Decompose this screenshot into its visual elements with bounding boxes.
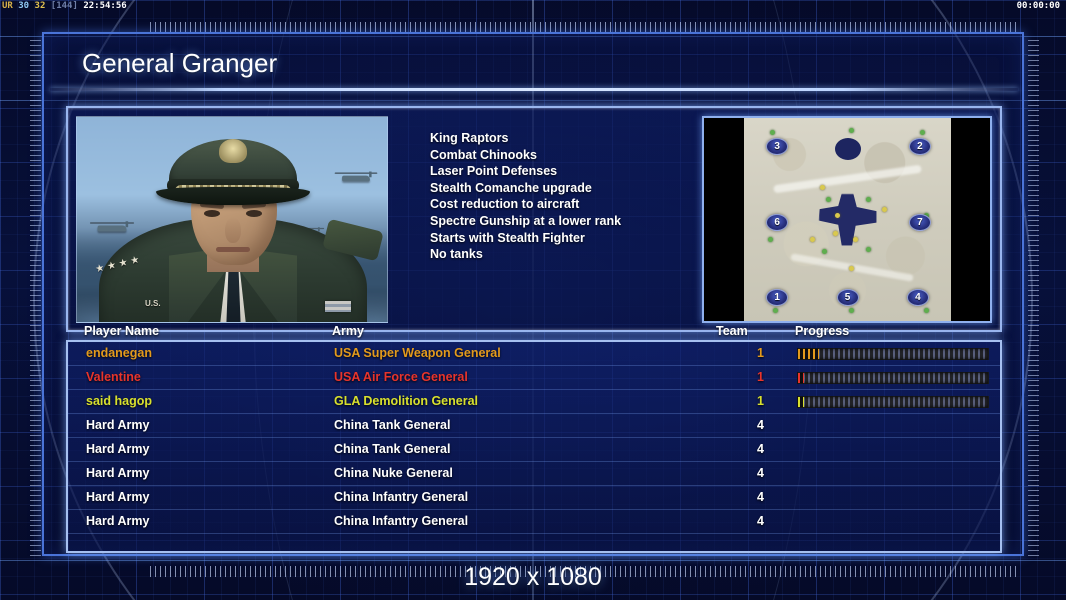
cell-team: 1 xyxy=(744,394,764,408)
table-row[interactable]: Hard ArmyChina Tank General4 xyxy=(68,438,1000,462)
ruler-right xyxy=(1028,40,1039,560)
map-resource-green-icon xyxy=(826,197,831,202)
cell-team: 4 xyxy=(744,514,764,528)
column-header-player-name: Player Name xyxy=(84,324,159,338)
progress-bar xyxy=(797,372,989,384)
resolution-overlay: 1920 x 1080 xyxy=(0,563,1066,592)
ruler-left xyxy=(30,40,41,560)
page-title: General Granger xyxy=(82,48,277,79)
map-start-position-5[interactable]: 5 xyxy=(837,289,859,306)
table-row[interactable]: endaneganUSA Super Weapon General1 xyxy=(68,342,1000,366)
cell-player-name: Hard Army xyxy=(86,514,149,528)
table-row[interactable]: ValentineUSA Air Force General1 xyxy=(68,366,1000,390)
cell-army: China Nuke General xyxy=(334,466,453,480)
game-screen: UR 30 32 [144] 22:54:56 00:00:00 General… xyxy=(0,0,1066,600)
map-terrain: 3267154 xyxy=(744,118,951,321)
cell-team: 1 xyxy=(744,370,764,384)
cell-team: 1 xyxy=(744,346,764,360)
table-row[interactable]: Hard ArmyChina Infantry General4 xyxy=(68,486,1000,510)
cell-army: China Tank General xyxy=(334,418,450,432)
officer-figure: ★★★★ U.S. xyxy=(77,117,388,323)
map-start-position-1[interactable]: 1 xyxy=(766,289,788,306)
status-bracket: [144] xyxy=(51,1,78,11)
horizontal-guide-bottom xyxy=(0,560,1066,561)
officer-us-insignia: U.S. xyxy=(145,299,161,308)
table-row[interactable]: Hard ArmyChina Tank General4 xyxy=(68,414,1000,438)
cell-army: China Infantry General xyxy=(334,514,468,528)
table-row[interactable]: Hard ArmyChina Nuke General4 xyxy=(68,462,1000,486)
perk-item: No tanks xyxy=(430,246,730,263)
cell-army: China Infantry General xyxy=(334,490,468,504)
map-resource-gold-icon xyxy=(835,213,840,218)
cell-army: USA Super Weapon General xyxy=(334,346,501,360)
general-portrait: ★★★★ U.S. xyxy=(76,116,388,323)
status-clock: 22:54:56 xyxy=(83,1,126,11)
map-resource-green-icon xyxy=(770,130,775,135)
table-header: Player Name Army Team Progress xyxy=(66,340,1002,341)
map-start-position-3[interactable]: 3 xyxy=(766,138,788,155)
map-resource-green-icon xyxy=(866,247,871,252)
map-resource-green-icon xyxy=(924,308,929,313)
map-resource-green-icon xyxy=(920,130,925,135)
cell-player-name: Valentine xyxy=(86,370,141,384)
officer-eye-right xyxy=(246,210,262,217)
map-river xyxy=(773,164,922,193)
player-rows: endaneganUSA Super Weapon General1Valent… xyxy=(68,342,1000,534)
player-list-panel: endaneganUSA Super Weapon General1Valent… xyxy=(66,340,1002,553)
officer-eye-left xyxy=(204,210,220,217)
map-resource-green-icon xyxy=(866,197,871,202)
progress-bar-fill xyxy=(798,397,804,407)
perk-item: Laser Point Defenses xyxy=(430,163,730,180)
status-timer: 00:00:00 xyxy=(1017,1,1060,11)
map-resource-green-icon xyxy=(768,237,773,242)
cell-army: USA Air Force General xyxy=(334,370,468,384)
cell-player-name: endanegan xyxy=(86,346,152,360)
map-resource-gold-icon xyxy=(882,207,887,212)
table-row[interactable]: said hagopGLA Demolition General1 xyxy=(68,390,1000,414)
status-value-2: 32 xyxy=(35,1,46,11)
cell-army: GLA Demolition General xyxy=(334,394,478,408)
perk-item: King Raptors xyxy=(430,130,730,147)
perk-item: Cost reduction to aircraft xyxy=(430,196,730,213)
officer-cap-brim xyxy=(156,187,310,205)
cell-team: 4 xyxy=(744,466,764,480)
top-status-bar: UR 30 32 [144] 22:54:56 00:00:00 xyxy=(0,0,1066,13)
status-left-group: UR 30 32 [144] 22:54:56 xyxy=(2,1,127,11)
officer-nose xyxy=(225,217,241,243)
cell-team: 4 xyxy=(744,442,764,456)
progress-bar xyxy=(797,396,989,408)
officer-ribbon-bar xyxy=(325,301,351,312)
title-divider xyxy=(50,88,1018,91)
map-lake xyxy=(835,138,861,160)
column-header-army: Army xyxy=(332,324,364,338)
general-info-panel: ★★★★ U.S. King Raptors Combat Chinooks L… xyxy=(66,106,1002,332)
officer-mouth xyxy=(216,247,250,252)
progress-bar xyxy=(797,348,989,360)
map-resource-green-icon xyxy=(822,249,827,254)
map-start-position-6[interactable]: 6 xyxy=(766,214,788,231)
map-resource-gold-icon xyxy=(833,231,838,236)
perk-item: Stealth Comanche upgrade xyxy=(430,180,730,197)
cell-player-name: Hard Army xyxy=(86,490,149,504)
cell-team: 4 xyxy=(744,490,764,504)
perk-item: Starts with Stealth Fighter xyxy=(430,230,730,247)
cell-player-name: Hard Army xyxy=(86,442,149,456)
cell-player-name: Hard Army xyxy=(86,466,149,480)
map-preview[interactable]: 3267154 xyxy=(702,116,992,323)
cell-player-name: said hagop xyxy=(86,394,152,408)
officer-cap-crest-icon xyxy=(219,139,247,163)
map-resource-gold-icon xyxy=(849,266,854,271)
map-start-position-2[interactable]: 2 xyxy=(909,138,931,155)
progress-bar-fill xyxy=(798,349,819,359)
map-start-position-7[interactable]: 7 xyxy=(909,214,931,231)
column-header-team: Team xyxy=(716,324,748,338)
perk-item: Spectre Gunship at a lower rank xyxy=(430,213,730,230)
map-resource-gold-icon xyxy=(820,185,825,190)
progress-bar-fill xyxy=(798,373,804,383)
perk-item: Combat Chinooks xyxy=(430,147,730,164)
map-resource-gold-icon xyxy=(810,237,815,242)
status-label: UR xyxy=(2,1,13,11)
map-resource-gold-icon xyxy=(853,237,858,242)
title-bar: General Granger xyxy=(52,36,1016,90)
table-row[interactable]: Hard ArmyChina Infantry General4 xyxy=(68,510,1000,534)
general-perks-list: King Raptors Combat Chinooks Laser Point… xyxy=(430,130,730,263)
map-resource-green-icon xyxy=(773,308,778,313)
cell-army: China Tank General xyxy=(334,442,450,456)
cell-team: 4 xyxy=(744,418,764,432)
status-value-1: 30 xyxy=(18,1,29,11)
cell-player-name: Hard Army xyxy=(86,418,149,432)
column-header-progress: Progress xyxy=(795,324,849,338)
map-start-position-4[interactable]: 4 xyxy=(907,289,929,306)
map-resource-green-icon xyxy=(849,128,854,133)
map-resource-green-icon xyxy=(849,308,854,313)
